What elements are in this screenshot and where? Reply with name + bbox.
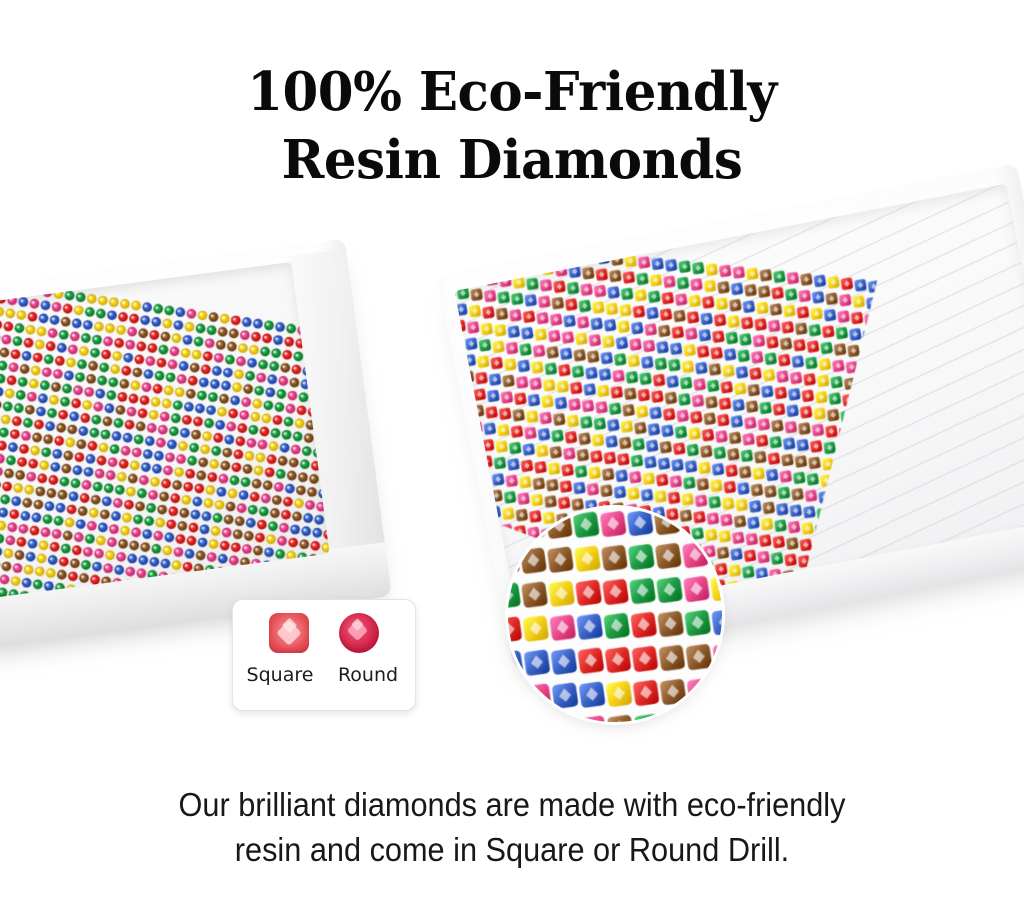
square-drill-label: Square	[244, 664, 316, 686]
product-infographic: 100% Eco-Friendly Resin Diamonds Squar	[0, 0, 1024, 923]
page-title: 100% Eco-Friendly Resin Diamonds	[15, 58, 1008, 194]
caption-line-2: resin and come in Square or Round Drill.	[36, 827, 988, 872]
closeup-content	[508, 508, 722, 722]
closeup-drill-field	[508, 508, 722, 722]
drill-type-card[interactable]: Square Round	[232, 599, 416, 711]
round-drill-tray	[0, 239, 392, 653]
round-drill-icon	[339, 613, 379, 653]
product-caption: Our brilliant diamonds are made with eco…	[36, 782, 988, 872]
gem-label-row: Square Round	[233, 664, 415, 686]
round-drill-field	[0, 262, 330, 603]
gem-row	[233, 613, 415, 653]
square-drill-closeup	[508, 508, 722, 722]
round-drill-label: Round	[332, 664, 404, 686]
square-drill-icon	[269, 613, 309, 653]
caption-line-1: Our brilliant diamonds are made with eco…	[179, 786, 846, 823]
tray-well	[0, 262, 330, 603]
headline-line-1: 100% Eco-Friendly	[247, 61, 777, 123]
headline-line-2: Resin Diamonds	[15, 126, 1008, 194]
